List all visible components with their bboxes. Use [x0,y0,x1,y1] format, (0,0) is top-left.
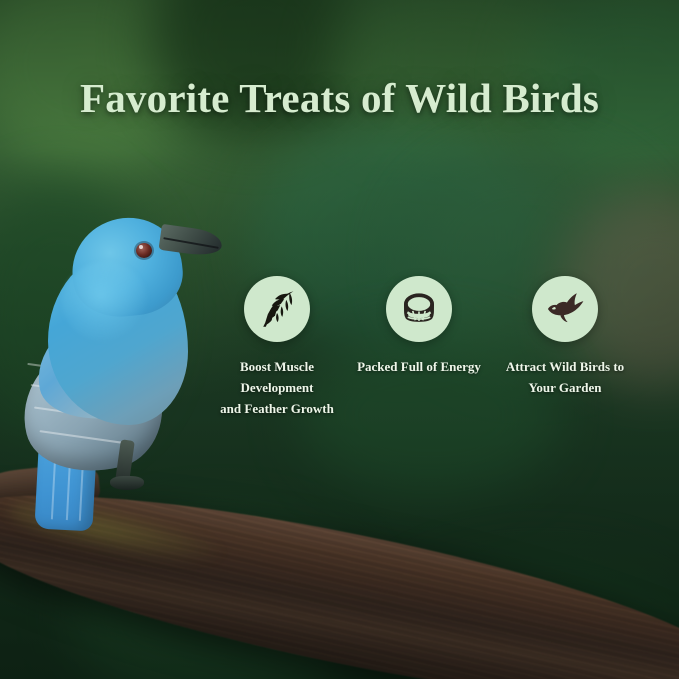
feature-item-attract-birds: Attract Wild Birds to Your Garden [490,276,640,398]
feature-label-1: Boost Muscle Development and Feather Gro… [202,356,352,419]
bird-foot [110,476,144,490]
feature-label-3-line-2: Your Garden [490,377,640,398]
suet-fat-ball-icon [399,289,439,329]
feather-icon [256,288,298,330]
feature-icon-circle-1 [244,276,310,342]
feature-label-2: Packed Full of Energy [344,356,494,377]
feature-label-2-line-1: Packed Full of Energy [344,356,494,377]
feature-label-1-line-3: and Feather Growth [202,398,352,419]
feature-label-3: Attract Wild Birds to Your Garden [490,356,640,398]
feature-icon-circle-3 [532,276,598,342]
feature-label-1-line-2: Development [202,377,352,398]
feature-label-3-line-1: Attract Wild Birds to [490,356,640,377]
feature-label-1-line-1: Boost Muscle [202,356,352,377]
feature-list: Boost Muscle Development and Feather Gro… [210,276,650,419]
feature-item-boost-muscle: Boost Muscle Development and Feather Gro… [202,276,352,419]
flying-bird-icon [544,288,586,330]
feature-icon-circle-2 [386,276,452,342]
bird-eye-highlight [139,245,143,249]
feature-item-packed-energy: Packed Full of Energy [344,276,494,377]
banner-title: Favorite Treats of Wild Birds [0,74,679,122]
bird-nape [62,262,148,342]
product-banner: Favorite Treats of Wild Birds [0,0,679,679]
